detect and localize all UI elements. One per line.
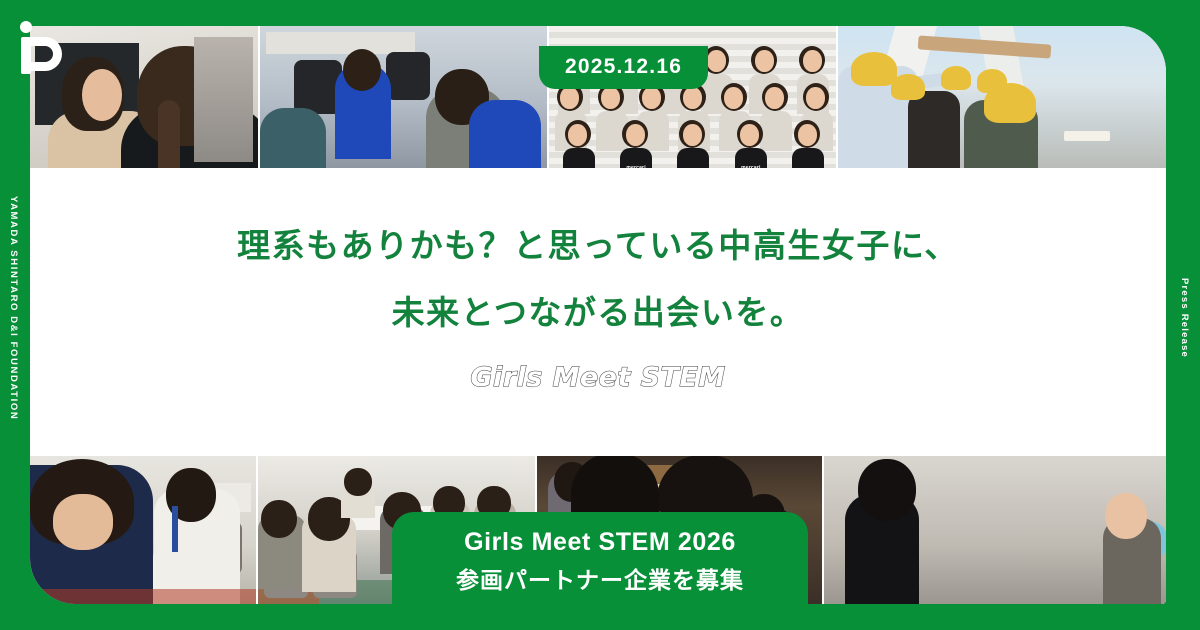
photo-site-tour-hardhats: [838, 26, 1166, 168]
photo-shape-chair: [386, 52, 430, 100]
photo-shape-person: mercari: [735, 120, 765, 168]
photo-shape-hardhat: [851, 52, 897, 86]
photo-workshop-coveralls: [30, 456, 256, 604]
publish-date-badge: 2025.12.16: [539, 46, 708, 89]
photo-shape-face: [82, 69, 122, 121]
photo-shape-person: [260, 108, 326, 168]
page-title: 理系もありかも？と思っている中高生女子に、 未来とつながる出会いを。: [237, 229, 959, 330]
photo-shape-hardhat: [984, 83, 1036, 123]
photo-circle-session-blue-uniform: [260, 26, 547, 168]
photo-shape-hardhat-name-sticker: [1064, 131, 1110, 141]
photo-shape-person: [563, 120, 593, 168]
headline-line-2: 未来とつながる出会いを。: [237, 296, 959, 331]
wordmark-text: Girls Meet STEM: [470, 362, 725, 393]
press-release-label-vertical: Press Release: [1179, 278, 1190, 358]
photo-shape-uniform-person: [469, 100, 541, 168]
id-monogram-logo: [16, 18, 72, 76]
campaign-banner: Girls Meet STEM 2026 参画パートナー企業を募集: [392, 512, 808, 604]
headline-section: 理系もありかも？と思っている中高生女子に、 未来とつながる出会いを。 Girls…: [30, 168, 1166, 456]
photo-shape-lanyard: [172, 506, 178, 552]
girls-meet-stem-wordmark: Girls Meet STEM: [489, 361, 707, 395]
tee-print-label: mercari: [620, 148, 652, 168]
foundation-name-vertical: YAMADA SHINTARO D&I FOUNDATION: [8, 196, 19, 496]
photo-shape-face: [53, 494, 113, 550]
campaign-title: Girls Meet STEM 2026: [464, 528, 736, 557]
photo-shape-head: [343, 49, 381, 91]
photo-shape-head: [261, 500, 297, 538]
photo-shape-table: [266, 32, 415, 55]
photo-listening-students: [824, 456, 1166, 604]
photo-shape-head: [344, 468, 372, 496]
photo-shape-hardhat: [891, 74, 925, 100]
photo-shape-hair: [858, 459, 916, 521]
campaign-subtitle: 参画パートナー企業を募集: [456, 561, 744, 595]
photo-shape-person: mercari: [620, 120, 650, 168]
photo-shape-person: [792, 120, 822, 168]
photo-shape-participant: [908, 91, 960, 168]
headline-line-1: 理系もありかも？と思っている中高生女子に、: [237, 229, 959, 264]
photo-shape-person: [677, 120, 707, 168]
photo-shape-background-figure: [194, 37, 253, 162]
photo-shape-floor: [30, 589, 256, 604]
photo-shape-person-row: mercari mercari: [549, 120, 836, 168]
photo-shape-face: [1105, 493, 1147, 539]
tee-print-label: mercari: [735, 148, 767, 168]
photo-shape-ponytail: [158, 100, 180, 168]
photo-shape-hardhat: [941, 66, 971, 90]
